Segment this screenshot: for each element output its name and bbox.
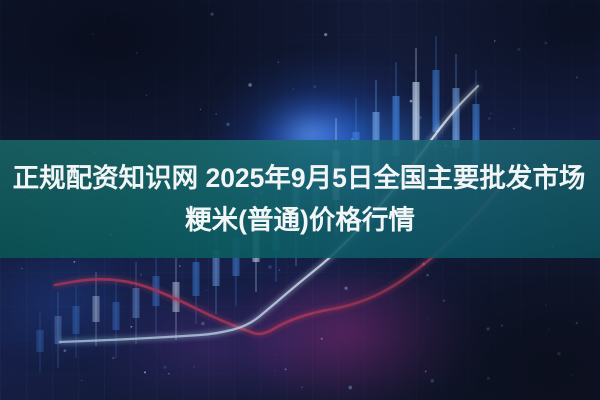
page-title-line-1: 正规配资知识网 2025年9月5日全国主要批发市场 — [13, 157, 588, 199]
title-block: 正规配资知识网 2025年9月5日全国主要批发市场 粳米(普通)价格行情 — [0, 140, 600, 258]
news-thumbnail-banner: 正规配资知识网 2025年9月5日全国主要批发市场 粳米(普通)价格行情 — [0, 0, 600, 400]
page-title-line-2: 粳米(普通)价格行情 — [185, 199, 415, 241]
